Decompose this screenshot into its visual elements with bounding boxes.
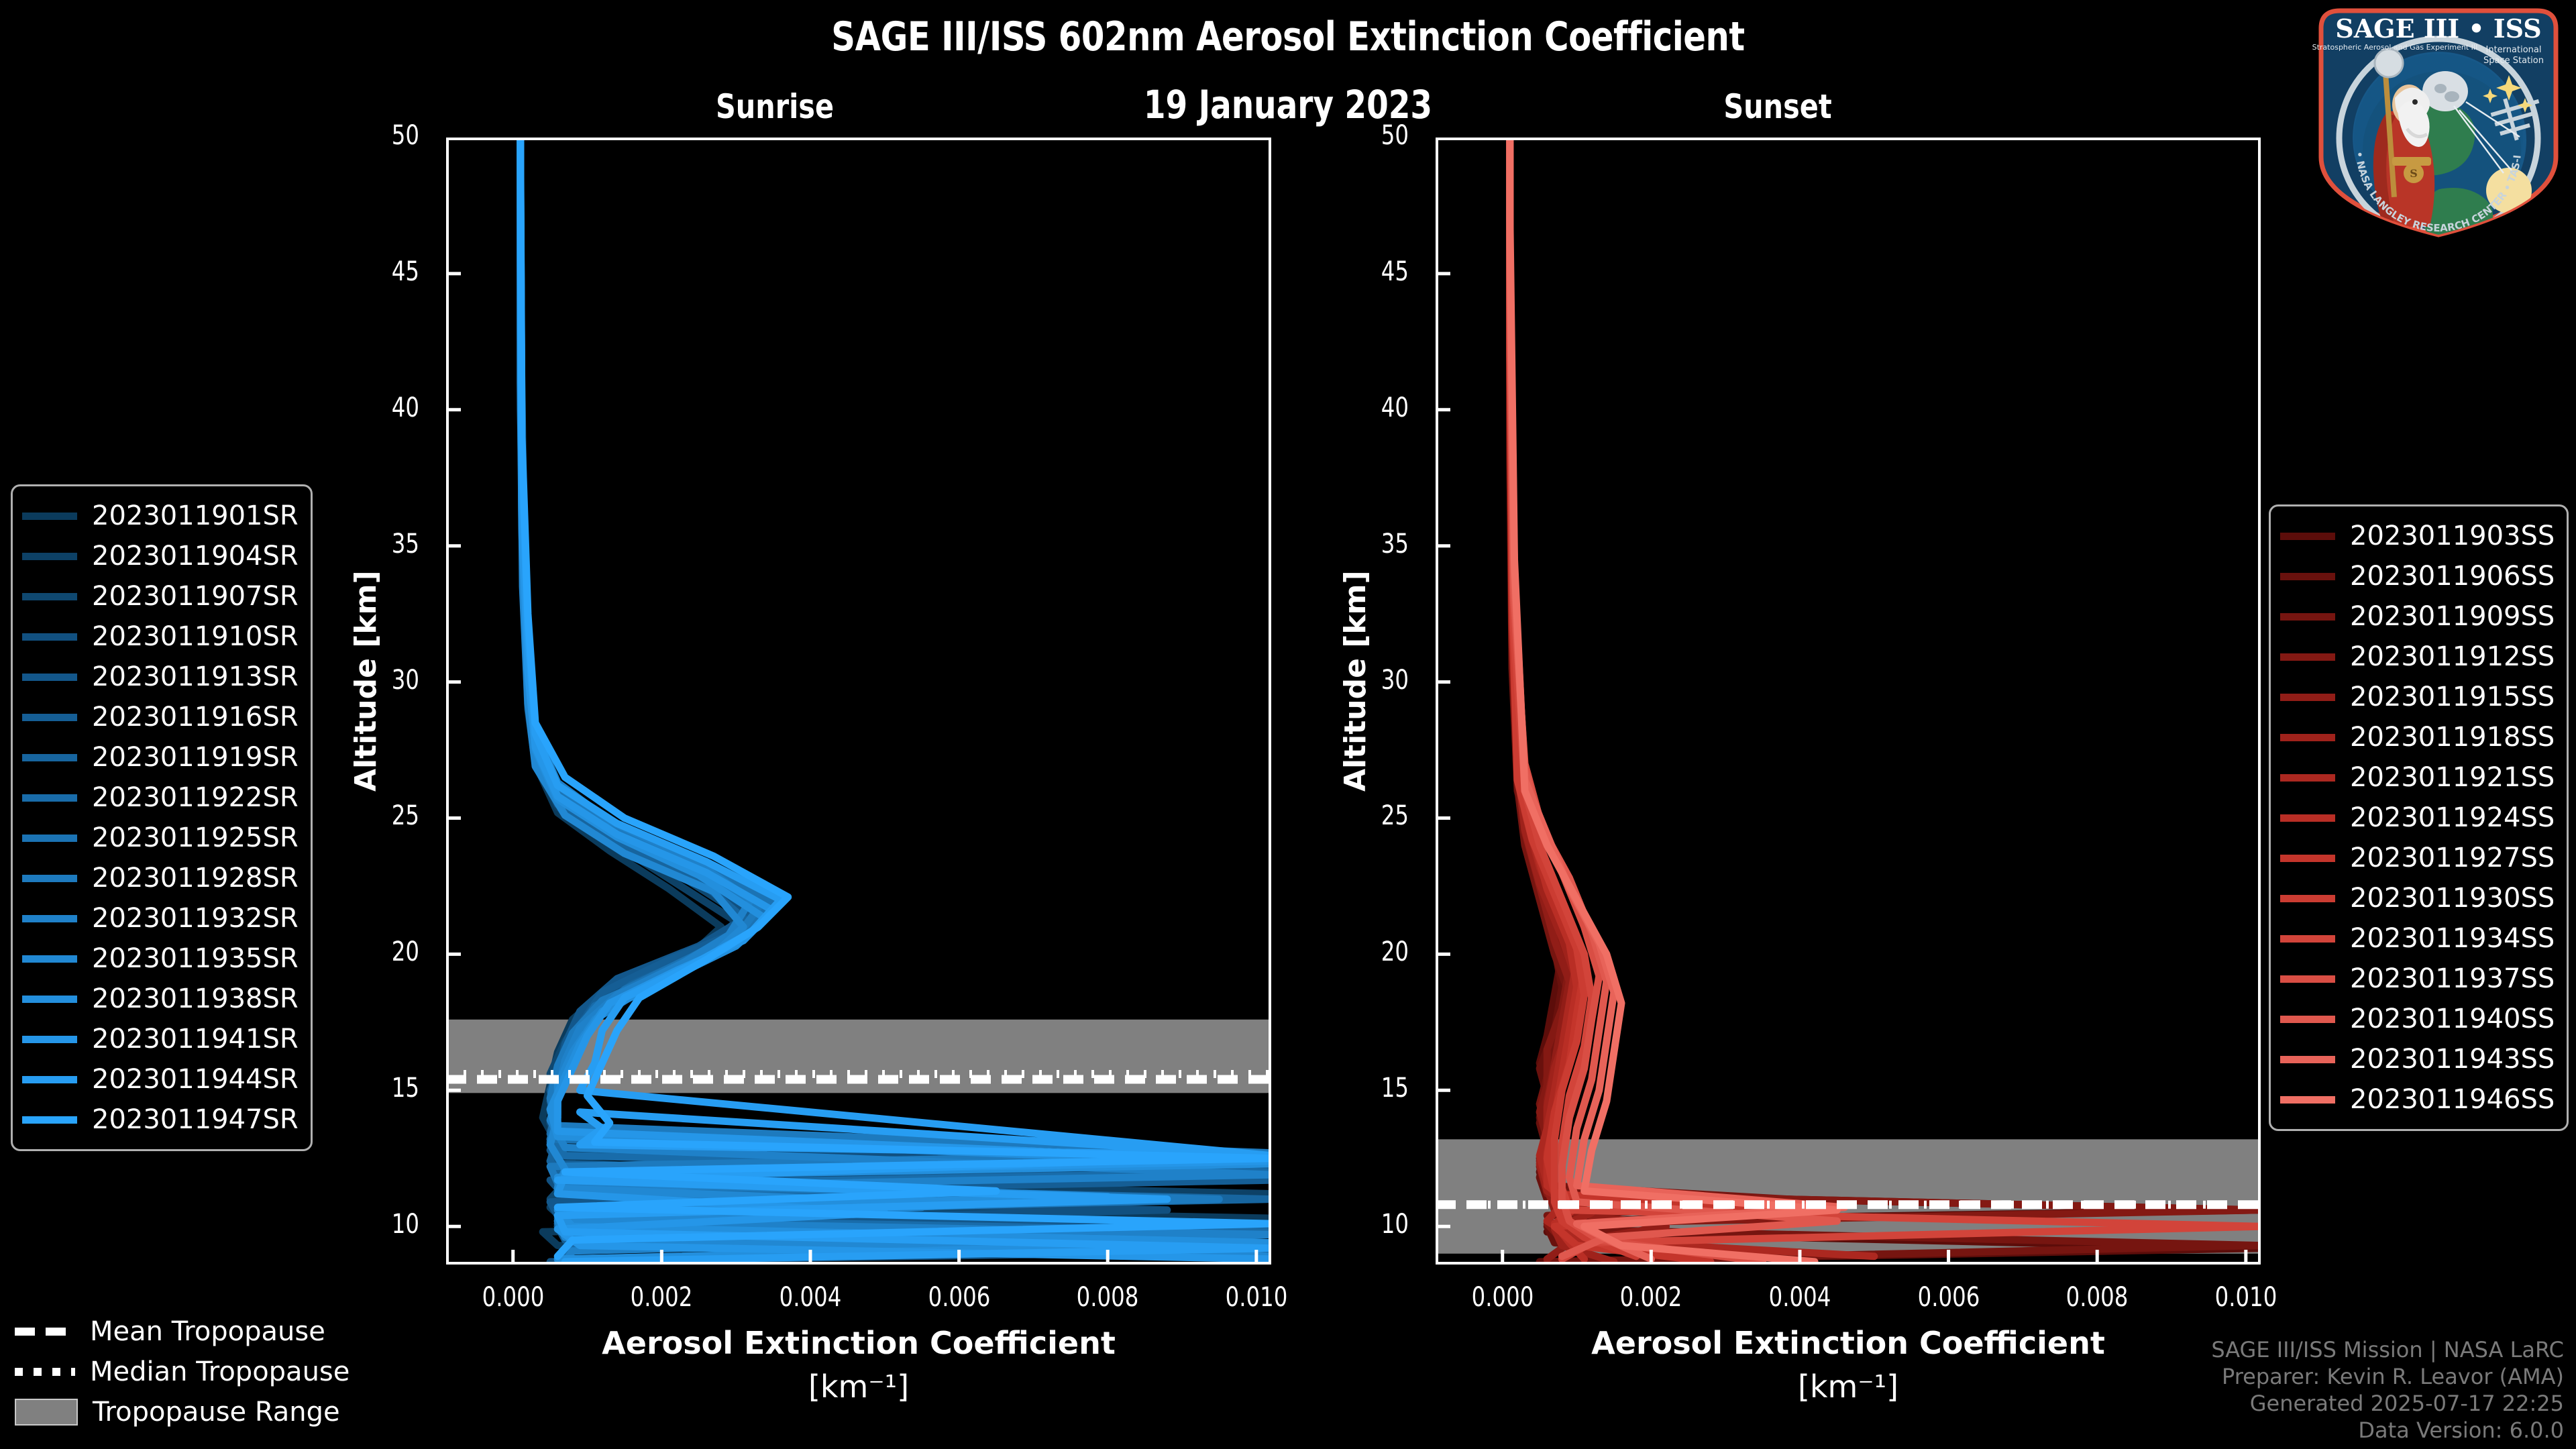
legend-color-swatch — [22, 1076, 77, 1083]
legend-label: 2023011925SR — [92, 822, 299, 853]
y-tick-label: 45 — [347, 256, 419, 287]
legend-label: 2023011919SR — [92, 742, 299, 773]
tropopause-legend-label: Tropopause Range — [93, 1397, 340, 1428]
sunrise-legend[interactable]: 2023011901SR2023011904SR2023011907SR2023… — [11, 484, 313, 1151]
tropopause-legend-label: Mean Tropopause — [90, 1316, 325, 1347]
legend-item-2023011938SR[interactable]: 2023011938SR — [22, 979, 299, 1019]
legend-label: 2023011903SS — [2350, 521, 2555, 551]
legend-color-swatch — [2280, 855, 2335, 862]
legend-item-2023011946SS[interactable]: 2023011946SS — [2280, 1079, 2555, 1120]
legend-label: 2023011901SR — [92, 500, 299, 531]
legend-color-swatch — [2280, 573, 2335, 580]
logo-subtitle-right-1: International — [2486, 45, 2542, 55]
legend-label: 2023011932SR — [92, 903, 299, 934]
legend-label: 2023011906SS — [2350, 561, 2555, 592]
x-tick-label: 0.008 — [1047, 1282, 1168, 1313]
credit-line: Generated 2025-07-17 22:25 — [2211, 1390, 2564, 1417]
x-tick-label: 0.004 — [1739, 1282, 1860, 1313]
y-tick-label: 25 — [347, 800, 419, 831]
legend-color-swatch — [2280, 814, 2335, 822]
legend-color-swatch — [2280, 1056, 2335, 1063]
tropopause-legend-item[interactable]: Tropopause Range — [15, 1392, 350, 1432]
y-tick-label: 10 — [347, 1209, 419, 1240]
legend-item-2023011927SS[interactable]: 2023011927SS — [2280, 838, 2555, 878]
y-tick-label: 35 — [347, 529, 419, 559]
legend-item-2023011940SS[interactable]: 2023011940SS — [2280, 999, 2555, 1039]
x-tick-label: 0.002 — [1591, 1282, 1711, 1313]
legend-label: 2023011934SS — [2350, 923, 2555, 954]
legend-color-swatch — [2280, 895, 2335, 902]
legend-label: 2023011907SR — [92, 581, 299, 612]
legend-item-2023011904SR[interactable]: 2023011904SR — [22, 536, 299, 576]
legend-item-2023011903SS[interactable]: 2023011903SS — [2280, 516, 2555, 556]
legend-label: 2023011915SS — [2350, 682, 2555, 712]
x-tick-label: 0.010 — [2186, 1282, 2306, 1313]
profile-line-2023011909SS — [1510, 138, 2261, 1262]
legend-item-2023011925SR[interactable]: 2023011925SR — [22, 818, 299, 858]
legend-label: 2023011912SS — [2350, 641, 2555, 672]
legend-item-2023011919SR[interactable]: 2023011919SR — [22, 737, 299, 777]
sunset-x-axis-label: Aerosol Extinction Coefficient — [1436, 1325, 2261, 1361]
legend-color-swatch — [22, 513, 77, 520]
legend-color-swatch — [22, 674, 77, 681]
legend-color-swatch — [22, 1116, 77, 1124]
page-title: SAGE III/ISS 602nm Aerosol Extinction Co… — [103, 13, 2473, 60]
legend-color-swatch — [2280, 935, 2335, 943]
sunrise-plot-svg — [446, 138, 1271, 1265]
sunrise-x-axis-label: Aerosol Extinction Coefficient — [446, 1325, 1271, 1361]
profile-line-2023011912SS — [1510, 138, 2261, 1256]
legend-label: 2023011916SR — [92, 702, 299, 733]
tropopause-band-swatch — [15, 1399, 78, 1426]
legend-color-swatch — [22, 794, 77, 802]
legend-label: 2023011940SS — [2350, 1004, 2555, 1034]
legend-label: 2023011941SR — [92, 1024, 299, 1055]
y-tick-label: 50 — [347, 120, 419, 151]
sunrise-plot-panel: 0.0000.0020.0040.0060.0080.0101015202530… — [446, 138, 1271, 1265]
legend-label: 2023011904SR — [92, 541, 299, 572]
legend-color-swatch — [22, 955, 77, 963]
legend-item-2023011912SS[interactable]: 2023011912SS — [2280, 637, 2555, 677]
y-tick-label: 15 — [1336, 1073, 1409, 1104]
legend-item-2023011941SR[interactable]: 2023011941SR — [22, 1019, 299, 1059]
profile-line-2023011944SR — [521, 138, 1271, 1262]
legend-label: 2023011910SR — [92, 621, 299, 652]
legend-item-2023011916SR[interactable]: 2023011916SR — [22, 697, 299, 737]
legend-color-swatch — [2280, 774, 2335, 782]
sunset-y-axis-label: Altitude [km] — [1338, 570, 1373, 792]
tropopause-dotted-swatch — [15, 1368, 75, 1376]
sunset-plot-svg — [1436, 138, 2261, 1265]
legend-item-2023011937SS[interactable]: 2023011937SS — [2280, 959, 2555, 999]
legend-item-2023011932SR[interactable]: 2023011932SR — [22, 898, 299, 938]
logo-title: SAGE III • ISS — [2335, 13, 2541, 44]
legend-color-swatch — [22, 633, 77, 641]
x-tick-label: 0.004 — [750, 1282, 871, 1313]
legend-item-2023011915SS[interactable]: 2023011915SS — [2280, 677, 2555, 717]
x-tick-label: 0.002 — [601, 1282, 722, 1313]
legend-item-2023011922SR[interactable]: 2023011922SR — [22, 777, 299, 818]
legend-item-2023011947SR[interactable]: 2023011947SR — [22, 1099, 299, 1140]
legend-label: 2023011946SS — [2350, 1084, 2555, 1115]
sunrise-y-axis-label: Altitude [km] — [349, 570, 383, 792]
y-tick-label: 15 — [347, 1073, 419, 1104]
tropopause-legend-label: Median Tropopause — [90, 1356, 350, 1387]
legend-label: 2023011947SR — [92, 1104, 299, 1135]
legend-color-swatch — [2280, 613, 2335, 621]
credit-line: Preparer: Kevin R. Leavor (AMA) — [2211, 1363, 2564, 1390]
legend-color-swatch — [2280, 694, 2335, 701]
sunrise-x-axis-unit: [km⁻¹] — [446, 1368, 1271, 1405]
legend-item-2023011930SS[interactable]: 2023011930SS — [2280, 878, 2555, 918]
legend-label: 2023011937SS — [2350, 963, 2555, 994]
legend-label: 2023011924SS — [2350, 802, 2555, 833]
x-tick-label: 0.006 — [899, 1282, 1020, 1313]
legend-color-swatch — [2280, 653, 2335, 661]
legend-color-swatch — [22, 714, 77, 721]
x-tick-label: 0.008 — [2037, 1282, 2157, 1313]
legend-item-2023011907SR[interactable]: 2023011907SR — [22, 576, 299, 616]
sunset-plot-panel: 0.0000.0020.0040.0060.0080.0101015202530… — [1436, 138, 2261, 1265]
profile-line-2023011934SS — [1510, 138, 2261, 1259]
tropopause-legend-item[interactable]: Median Tropopause — [15, 1352, 350, 1392]
legend-color-swatch — [22, 915, 77, 922]
credit-line: Data Version: 6.0.0 — [2211, 1417, 2564, 1444]
legend-color-swatch — [2280, 533, 2335, 540]
legend-label: 2023011909SS — [2350, 601, 2555, 632]
legend-item-2023011934SS[interactable]: 2023011934SS — [2280, 918, 2555, 959]
legend-label: 2023011928SR — [92, 863, 299, 894]
plot-frame — [446, 138, 1271, 1265]
legend-label: 2023011921SS — [2350, 762, 2555, 793]
y-tick-label: 20 — [1336, 936, 1409, 967]
legend-item-2023011913SR[interactable]: 2023011913SR — [22, 657, 299, 697]
legend-item-2023011924SS[interactable]: 2023011924SS — [2280, 798, 2555, 838]
legend-label: 2023011943SS — [2350, 1044, 2555, 1075]
y-tick-label: 50 — [1336, 120, 1409, 151]
legend-item-2023011906SS[interactable]: 2023011906SS — [2280, 556, 2555, 596]
date-subtitle: 19 January 2023 — [129, 82, 2447, 127]
sunset-x-axis-unit: [km⁻¹] — [1436, 1368, 2261, 1405]
legend-label: 2023011944SR — [92, 1064, 299, 1095]
legend-color-swatch — [2280, 1016, 2335, 1023]
legend-label: 2023011938SR — [92, 983, 299, 1014]
y-tick-label: 40 — [1336, 392, 1409, 423]
legend-color-swatch — [22, 875, 77, 882]
y-tick-label: 10 — [1336, 1209, 1409, 1240]
y-tick-label: 40 — [347, 392, 419, 423]
legend-color-swatch — [2280, 975, 2335, 983]
sage-iii-iss-logo: S BALL • NASA LANGLEY RESEARCH CENTER • … — [2308, 4, 2569, 239]
legend-color-swatch — [22, 996, 77, 1003]
credit-block: SAGE III/ISS Mission | NASA LaRCPreparer… — [2211, 1336, 2564, 1444]
legend-color-swatch — [22, 593, 77, 600]
legend-item-2023011909SS[interactable]: 2023011909SS — [2280, 596, 2555, 637]
legend-item-2023011921SS[interactable]: 2023011921SS — [2280, 757, 2555, 798]
legend-color-swatch — [2280, 1096, 2335, 1104]
y-tick-label: 25 — [1336, 800, 1409, 831]
svg-text:S: S — [2410, 167, 2418, 180]
logo-subtitle-right-2: Space Station — [2483, 56, 2544, 66]
tropopause-legend-item[interactable]: Mean Tropopause — [15, 1311, 350, 1352]
legend-color-swatch — [22, 553, 77, 560]
legend-item-2023011944SR[interactable]: 2023011944SR — [22, 1059, 299, 1099]
tropopause-dashed-swatch — [15, 1328, 75, 1336]
legend-color-swatch — [22, 1036, 77, 1043]
legend-label: 2023011930SS — [2350, 883, 2555, 914]
legend-item-2023011910SR[interactable]: 2023011910SR — [22, 616, 299, 657]
legend-color-swatch — [2280, 734, 2335, 741]
legend-color-swatch — [22, 835, 77, 842]
credit-line: SAGE III/ISS Mission | NASA LaRC — [2211, 1336, 2564, 1363]
legend-label: 2023011913SR — [92, 661, 299, 692]
logo-subtitle-left: Stratospheric Aerosol and Gas Experiment… — [2312, 43, 2478, 52]
legend-item-2023011935SR[interactable]: 2023011935SR — [22, 938, 299, 979]
legend-label: 2023011935SR — [92, 943, 299, 974]
tropopause-legend: Mean TropopauseMedian TropopauseTropopau… — [15, 1311, 350, 1432]
sunset-panel-title: Sunset — [1660, 87, 1895, 126]
y-tick-label: 20 — [347, 936, 419, 967]
legend-label: 2023011918SS — [2350, 722, 2555, 753]
legend-label: 2023011927SS — [2350, 843, 2555, 873]
x-tick-label: 0.006 — [1888, 1282, 2009, 1313]
legend-color-swatch — [22, 754, 77, 761]
x-tick-label: 0.000 — [1442, 1282, 1563, 1313]
sunrise-panel-title: Sunrise — [657, 87, 892, 126]
legend-item-2023011901SR[interactable]: 2023011901SR — [22, 496, 299, 536]
legend-item-2023011943SS[interactable]: 2023011943SS — [2280, 1039, 2555, 1079]
sunset-legend[interactable]: 2023011903SS2023011906SS2023011909SS2023… — [2269, 504, 2569, 1131]
y-tick-label: 35 — [1336, 529, 1409, 559]
y-tick-label: 45 — [1336, 256, 1409, 287]
profile-line-2023011903SS — [1510, 138, 2261, 1262]
legend-item-2023011918SS[interactable]: 2023011918SS — [2280, 717, 2555, 757]
x-tick-label: 0.000 — [453, 1282, 574, 1313]
legend-item-2023011928SR[interactable]: 2023011928SR — [22, 858, 299, 898]
x-tick-label: 0.010 — [1196, 1282, 1317, 1313]
legend-label: 2023011922SR — [92, 782, 299, 813]
